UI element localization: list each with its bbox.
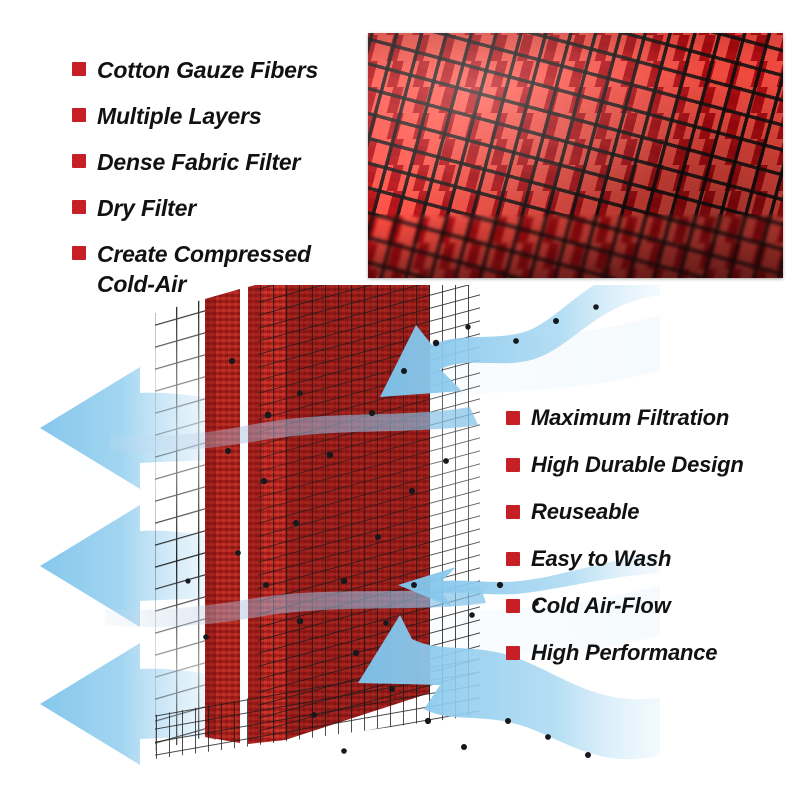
list-item: Maximum Filtration	[506, 404, 796, 432]
photo-depth-blur	[368, 214, 783, 278]
red-square-bullet-icon	[506, 505, 520, 519]
feature-label: Reuseable	[531, 498, 639, 526]
feature-label: Cold Air-Flow	[531, 592, 671, 620]
red-square-bullet-icon	[72, 108, 86, 122]
filter-media-macro-photo	[368, 33, 783, 278]
filter-benefit-feature-list: Maximum Filtration High Durable Design R…	[506, 404, 796, 686]
filter-construction-feature-list: Cotton Gauze Fibers Multiple Layers Dens…	[72, 55, 372, 315]
list-item: Cold Air-Flow	[506, 592, 796, 620]
list-item: Dense Fabric Filter	[72, 147, 372, 177]
feature-label: Dense Fabric Filter	[97, 147, 300, 177]
red-square-bullet-icon	[506, 646, 520, 660]
feature-label: Cotton Gauze Fibers	[97, 55, 318, 85]
red-square-bullet-icon	[506, 411, 520, 425]
list-item: High Durable Design	[506, 451, 796, 479]
list-item: Easy to Wash	[506, 545, 796, 573]
feature-label: High Performance	[531, 639, 717, 667]
list-item: Multiple Layers	[72, 101, 372, 131]
list-item: High Performance	[506, 639, 796, 667]
red-square-bullet-icon	[72, 246, 86, 260]
red-square-bullet-icon	[72, 200, 86, 214]
feature-label: Maximum Filtration	[531, 404, 729, 432]
red-square-bullet-icon	[506, 599, 520, 613]
feature-label: Multiple Layers	[97, 101, 261, 131]
list-item: Cotton Gauze Fibers	[72, 55, 372, 85]
feature-label: High Durable Design	[531, 451, 744, 479]
feature-label: Easy to Wash	[531, 545, 671, 573]
red-square-bullet-icon	[506, 552, 520, 566]
red-square-bullet-icon	[506, 458, 520, 472]
list-item: Dry Filter	[72, 193, 372, 223]
red-square-bullet-icon	[72, 154, 86, 168]
cotton-gauze-layer-1	[205, 289, 240, 743]
infographic-canvas: Cotton Gauze Fibers Multiple Layers Dens…	[0, 0, 800, 800]
feature-label: Dry Filter	[97, 193, 196, 223]
red-square-bullet-icon	[72, 62, 86, 76]
list-item: Reuseable	[506, 498, 796, 526]
